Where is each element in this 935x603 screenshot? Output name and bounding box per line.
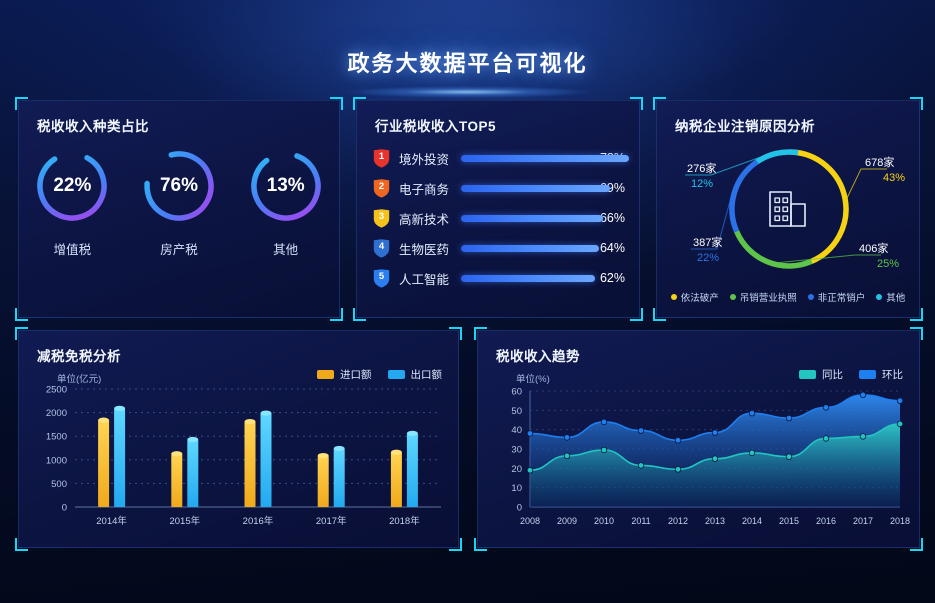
panel-title: 纳税企业注销原因分析: [675, 115, 815, 135]
legend-item[interactable]: 依法破产: [671, 290, 719, 304]
legend-dot-icon: [808, 294, 814, 300]
rank-number: 1: [373, 149, 390, 168]
donut-legend: 依法破产吊销营业执照非正常销户其他: [657, 290, 919, 304]
svg-text:387家: 387家: [693, 235, 722, 249]
industry-name: 生物医药: [399, 239, 461, 258]
gauge-ring: 22%: [33, 147, 111, 225]
gauge-ring: 76%: [140, 147, 218, 225]
svg-text:30: 30: [511, 445, 522, 456]
rank-shield-icon: 3: [373, 209, 390, 228]
gauge-1: 22%增值税: [24, 147, 120, 258]
corner-bracket-icon: [330, 308, 343, 321]
corner-bracket-icon: [15, 538, 28, 551]
industry-name: 电子商务: [399, 179, 461, 198]
svg-text:276家: 276家: [687, 161, 716, 175]
industry-name: 人工智能: [399, 269, 461, 288]
svg-text:40: 40: [511, 425, 522, 436]
corner-bracket-icon: [353, 97, 366, 110]
corner-bracket-icon: [653, 97, 666, 110]
top5-row[interactable]: 1境外投资78%: [373, 143, 625, 173]
corner-bracket-icon: [353, 308, 366, 321]
legend-swatch-icon: [859, 370, 876, 379]
corner-bracket-icon: [910, 97, 923, 110]
panel-tax-reduction-analysis: 减税免税分析 单位(亿元) 进口额出口额 0500100015002000250…: [18, 330, 459, 548]
svg-text:2010: 2010: [594, 516, 614, 526]
svg-text:678家: 678家: [865, 155, 894, 169]
panel-tax-income-trend: 税收收入趋势 单位(%) 同比环比 0102030405060200820092…: [477, 330, 920, 548]
legend-item[interactable]: 环比: [859, 367, 903, 382]
svg-text:1000: 1000: [46, 455, 67, 466]
panel-industry-top5: 行业税收收入TOP5 1境外投资78%2电子商务69%3高新技术66%4生物医药…: [356, 100, 640, 318]
top5-row[interactable]: 3高新技术66%: [373, 203, 625, 233]
rank-shield-icon: 2: [373, 179, 390, 198]
rank-number: 2: [373, 179, 390, 198]
gauge-3: 13%其他: [238, 147, 334, 258]
corner-bracket-icon: [449, 538, 462, 551]
rank-number: 4: [373, 239, 390, 258]
progress-track: [461, 215, 585, 222]
svg-text:50: 50: [511, 406, 522, 417]
gauge-caption: 增值税: [24, 239, 120, 258]
corner-bracket-icon: [630, 308, 643, 321]
svg-text:2014: 2014: [742, 516, 762, 526]
corner-bracket-icon: [910, 538, 923, 551]
legend-label: 非正常销户: [818, 290, 866, 304]
legend-label: 同比: [822, 367, 843, 382]
progress-fill: [461, 215, 603, 222]
svg-text:2016年: 2016年: [243, 515, 274, 527]
progress-track: [461, 155, 585, 162]
gauge-value: 22%: [33, 147, 111, 225]
svg-text:2018: 2018: [890, 516, 910, 526]
industry-name: 高新技术: [399, 209, 461, 228]
progress-fill: [461, 275, 595, 282]
gauge-caption: 房产税: [131, 239, 227, 258]
svg-text:25%: 25%: [877, 258, 899, 270]
corner-bracket-icon: [15, 308, 28, 321]
top5-row[interactable]: 2电子商务69%: [373, 173, 625, 203]
legend-dot-icon: [876, 294, 882, 300]
svg-text:2014年: 2014年: [96, 515, 127, 527]
legend-item[interactable]: 同比: [799, 367, 843, 382]
legend-item[interactable]: 其他: [876, 290, 905, 304]
progress-track: [461, 245, 585, 252]
legend-label: 依法破产: [681, 290, 719, 304]
progress-fill: [461, 185, 610, 192]
svg-text:12%: 12%: [691, 178, 713, 190]
donut-chart[interactable]: 678家43%406家25%387家22%276家12%: [657, 133, 921, 285]
panel-tax-type-share: 税收收入种类占比 22%增值税76%房产税13%其他: [18, 100, 340, 318]
corner-bracket-icon: [630, 97, 643, 110]
svg-text:2500: 2500: [46, 385, 67, 396]
corner-bracket-icon: [15, 327, 28, 340]
legend-swatch-icon: [799, 370, 816, 379]
rank-shield-icon: 5: [373, 269, 390, 288]
gauge-caption: 其他: [238, 239, 334, 258]
legend-dot-icon: [671, 294, 677, 300]
svg-text:2013: 2013: [705, 516, 725, 526]
page-title: 政务大数据平台可视化: [0, 46, 935, 78]
legend-label: 出口额: [411, 367, 443, 382]
legend-swatch-icon: [388, 370, 405, 379]
gauge-2: 76%房产税: [131, 147, 227, 258]
rank-number: 3: [373, 209, 390, 228]
svg-text:2016: 2016: [816, 516, 836, 526]
gauge-value: 13%: [247, 147, 325, 225]
bar-chart[interactable]: 050010001500200025002014年2015年2016年2017年…: [29, 383, 449, 533]
gauge-group: 22%增值税76%房产税13%其他: [19, 147, 339, 258]
corner-bracket-icon: [330, 97, 343, 110]
svg-text:500: 500: [51, 479, 67, 490]
area-chart[interactable]: 0102030405060200820092010201120122013201…: [488, 383, 910, 533]
corner-bracket-icon: [910, 327, 923, 340]
legend-dot-icon: [730, 294, 736, 300]
panel-title: 税收收入趋势: [496, 345, 580, 365]
rank-number: 5: [373, 269, 390, 288]
top5-row[interactable]: 4生物医药64%: [373, 233, 625, 263]
corner-bracket-icon: [653, 308, 666, 321]
dashboard-root: 政务大数据平台可视化 税收收入种类占比 22%增值税76%房产税13%其他 行业…: [0, 0, 935, 603]
svg-text:2011: 2011: [631, 516, 650, 526]
svg-text:2012: 2012: [668, 516, 688, 526]
chart-legend: 进口额出口额: [317, 367, 442, 382]
industry-name: 境外投资: [399, 149, 461, 168]
progress-fill: [461, 155, 629, 162]
corner-bracket-icon: [15, 97, 28, 110]
corner-bracket-icon: [474, 538, 487, 551]
progress-track: [461, 185, 585, 192]
svg-text:10: 10: [511, 483, 522, 494]
gauge-value: 76%: [140, 147, 218, 225]
panel-title: 税收收入种类占比: [37, 115, 149, 135]
svg-text:406家: 406家: [859, 241, 888, 255]
svg-text:2000: 2000: [46, 408, 67, 419]
chart-legend: 同比环比: [799, 367, 903, 382]
svg-text:2009: 2009: [557, 516, 577, 526]
rank-shield-icon: 1: [373, 149, 390, 168]
legend-swatch-icon: [317, 370, 334, 379]
panel-title: 行业税收收入TOP5: [375, 115, 496, 135]
legend-label: 其他: [886, 290, 905, 304]
legend-item[interactable]: 进口额: [317, 367, 372, 382]
legend-item[interactable]: 吊销营业执照: [730, 290, 797, 304]
panel-cancel-reason-analysis: 纳税企业注销原因分析 678家43%406家25%387家22%276家12% …: [656, 100, 920, 318]
gauge-ring: 13%: [247, 147, 325, 225]
svg-text:60: 60: [511, 387, 522, 398]
svg-text:0: 0: [517, 503, 522, 514]
legend-item[interactable]: 非正常销户: [808, 290, 866, 304]
svg-text:0: 0: [62, 503, 67, 514]
svg-text:2008: 2008: [520, 516, 540, 526]
rank-shield-icon: 4: [373, 239, 390, 258]
progress-fill: [461, 245, 599, 252]
legend-label: 环比: [882, 367, 903, 382]
corner-bracket-icon: [474, 327, 487, 340]
svg-text:20: 20: [511, 464, 522, 475]
svg-text:43%: 43%: [883, 172, 905, 184]
svg-text:2015: 2015: [779, 516, 799, 526]
svg-text:1500: 1500: [46, 432, 67, 443]
svg-text:2017: 2017: [853, 516, 873, 526]
svg-text:2017年: 2017年: [316, 515, 347, 527]
svg-text:2015年: 2015年: [169, 515, 200, 527]
svg-text:22%: 22%: [697, 252, 719, 264]
top5-list: 1境外投资78%2电子商务69%3高新技术66%4生物医药64%5人工智能62%: [373, 143, 625, 293]
corner-bracket-icon: [449, 327, 462, 340]
legend-item[interactable]: 出口额: [388, 367, 443, 382]
legend-label: 进口额: [340, 367, 372, 382]
svg-text:2018年: 2018年: [389, 515, 420, 527]
corner-bracket-icon: [910, 308, 923, 321]
top5-row[interactable]: 5人工智能62%: [373, 263, 625, 293]
progress-track: [461, 275, 585, 282]
panel-title: 减税免税分析: [37, 345, 121, 365]
legend-label: 吊销营业执照: [740, 290, 797, 304]
